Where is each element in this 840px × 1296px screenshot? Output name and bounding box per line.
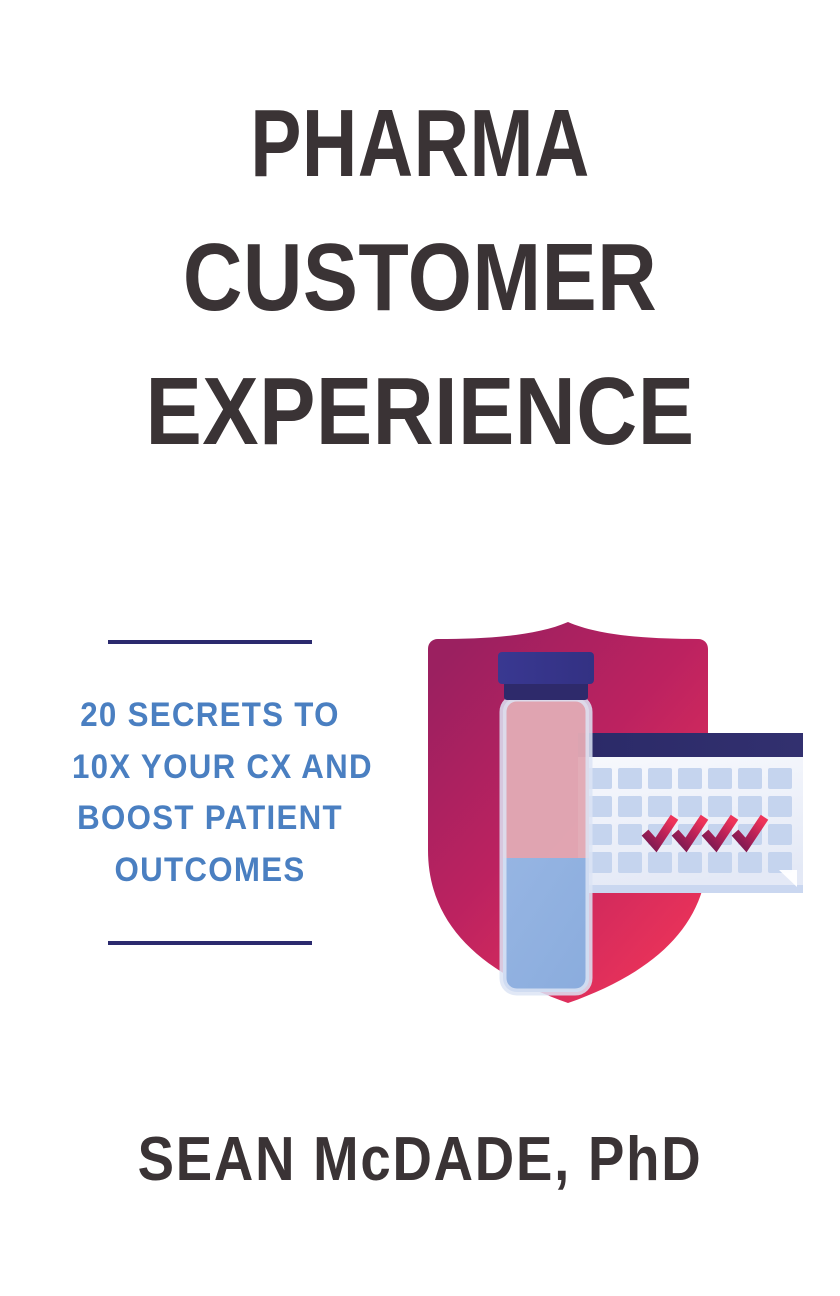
vaccine-shield-calendar-illustration xyxy=(408,608,808,1018)
calendar-icon xyxy=(578,733,803,893)
subtitle-line-1: 20 SECRETS TO xyxy=(72,690,348,742)
book-subtitle: 20 SECRETS TO 10X YOUR CX AND BOOST PATI… xyxy=(60,640,360,945)
subtitle-line-2: 10X YOUR CX AND xyxy=(72,742,348,794)
subtitle-line-4: OUTCOMES xyxy=(72,845,348,897)
author-name: SEAN McDADE, PhD xyxy=(50,1124,789,1195)
book-cover: PHARMA CUSTOMER EXPERIENCE 20 SECRETS TO… xyxy=(0,0,840,1296)
subtitle-text: 20 SECRETS TO 10X YOUR CX AND BOOST PATI… xyxy=(72,690,348,897)
book-title: PHARMA CUSTOMER EXPERIENCE xyxy=(0,96,840,460)
title-line-3: EXPERIENCE xyxy=(50,364,789,460)
title-line-2: CUSTOMER xyxy=(59,230,781,326)
subtitle-rule-top xyxy=(108,640,312,644)
subtitle-rule-bottom xyxy=(108,941,312,945)
subtitle-line-3: BOOST PATIENT xyxy=(72,793,348,845)
title-line-1: PHARMA xyxy=(84,96,756,192)
